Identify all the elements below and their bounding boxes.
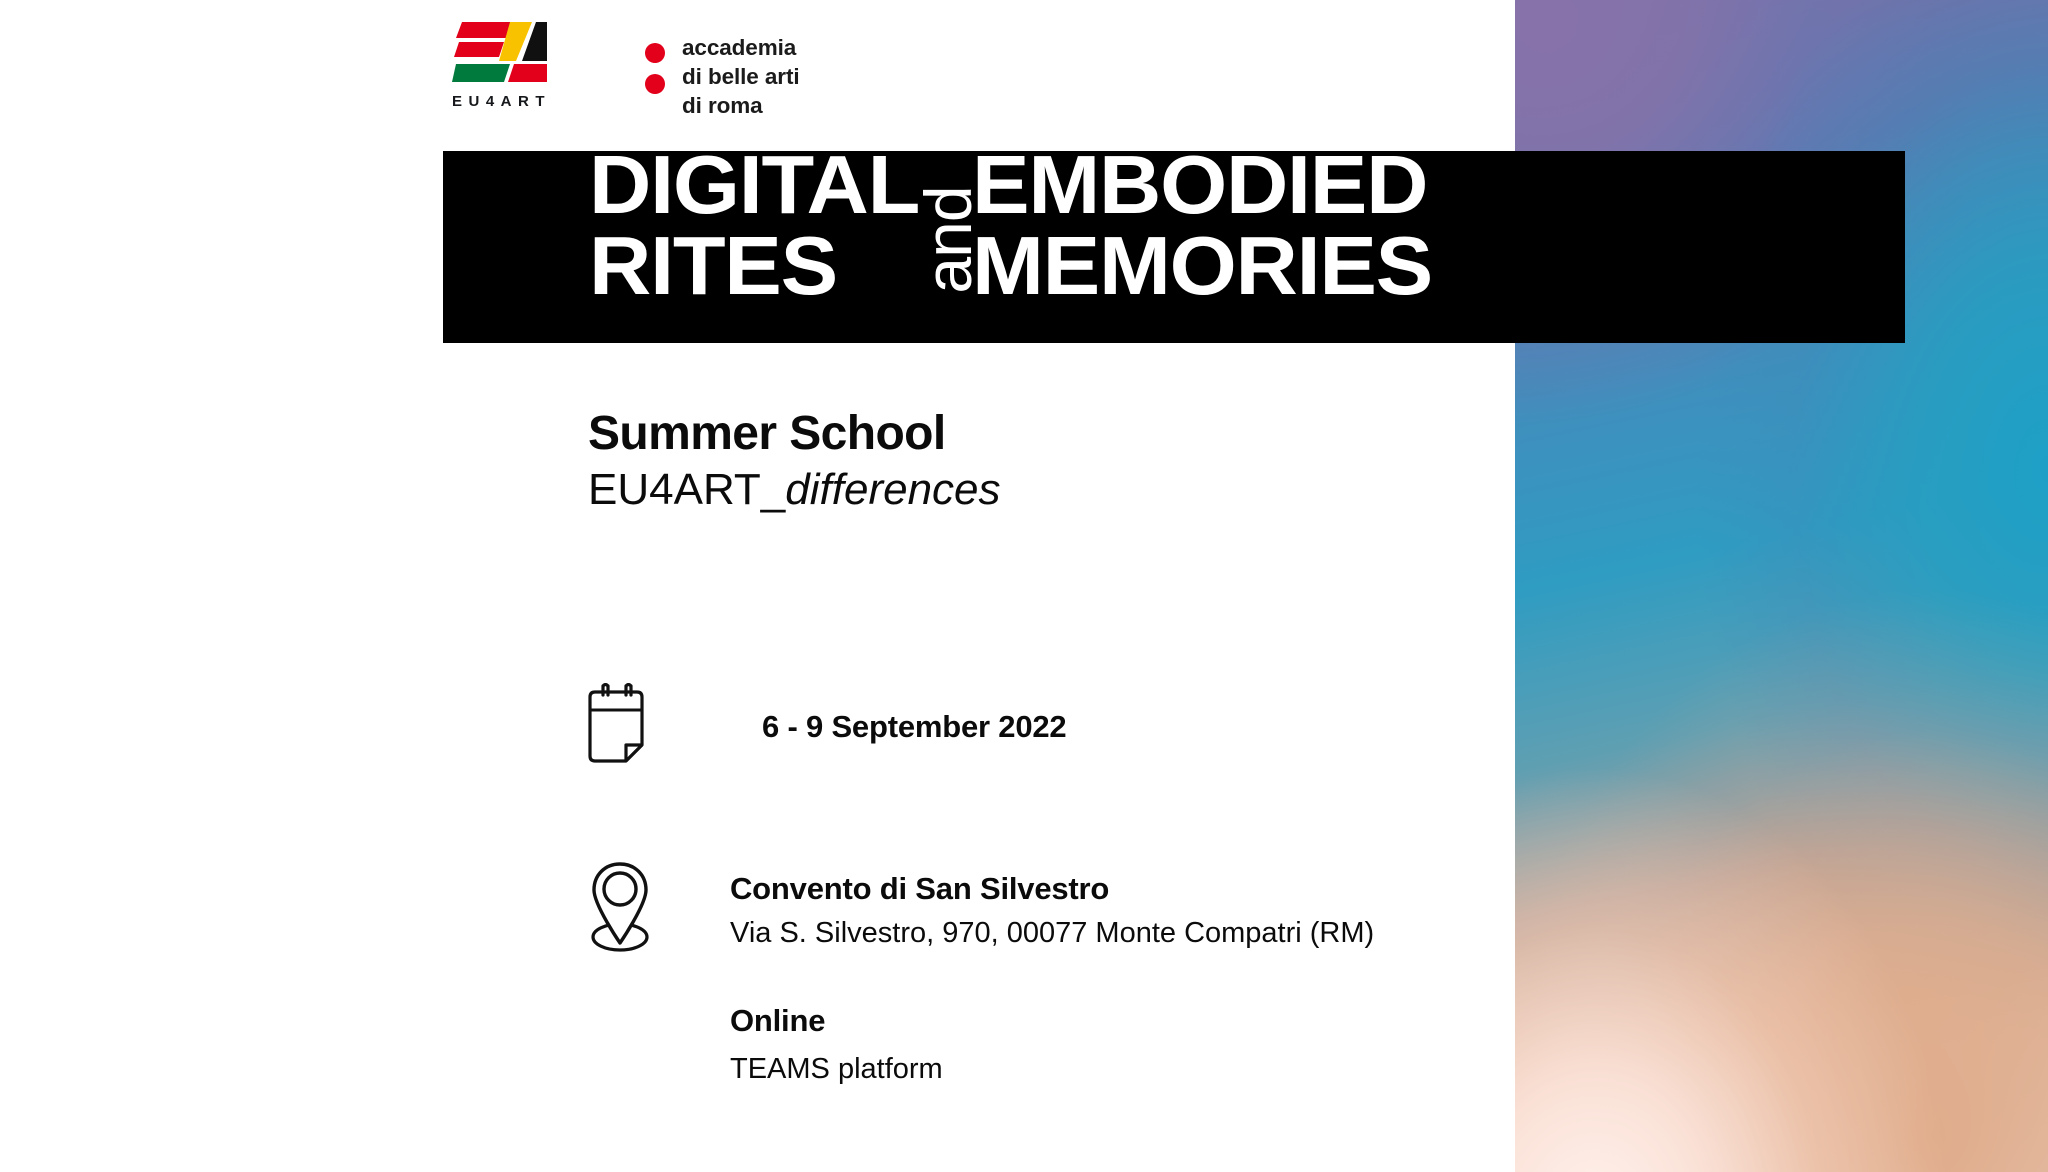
poster-canvas: EU4ART accademia di belle arti di roma D… [0, 0, 2048, 1172]
accademia-logo: accademia di belle arti di roma [644, 34, 799, 120]
eu4art-flag-logo [452, 16, 548, 88]
online-heading: Online [730, 1002, 1374, 1041]
banner-conjunction-wrap: and [906, 151, 972, 320]
venue-name: Convento di San Silvestro [730, 870, 1374, 909]
banner-title-embodied: EMBODIED [972, 151, 1432, 226]
banner-title-digital: DIGITAL [589, 151, 919, 226]
accademia-text-block: accademia di belle arti di roma [682, 34, 799, 120]
banner-title-rites: RITES [589, 226, 919, 307]
accademia-line-3: di roma [682, 92, 799, 121]
location-pin-icon [588, 855, 652, 955]
date-value: 6 - 9 September 2022 [762, 708, 1066, 747]
venue-text-block: Convento di San Silvestro Via S. Silvest… [730, 870, 1374, 1089]
eu4art-wordmark: EU4ART [452, 93, 548, 110]
online-platform: TEAMS platform [730, 1051, 1374, 1089]
school-subtitle-italic: differences [785, 465, 1000, 514]
banner-inner: DIGITAL RITES and EMBODIED MEMORIES [589, 151, 1415, 320]
logo-row: EU4ART accademia di belle arti di roma [452, 16, 799, 120]
banner-title-memories: MEMORIES [972, 226, 1432, 307]
date-text-block: 6 - 9 September 2022 [762, 708, 1066, 747]
venue-address: Via S. Silvestro, 970, 00077 Monte Compa… [730, 915, 1374, 953]
accademia-line-1: accademia [682, 34, 799, 63]
calendar-icon [580, 683, 652, 771]
school-subtitle-prefix: EU4ART_ [588, 465, 785, 514]
school-title: Summer School [588, 407, 1001, 461]
date-row: 6 - 9 September 2022 [580, 683, 1066, 771]
eu4art-logo: EU4ART [452, 16, 548, 110]
school-heading-block: Summer School EU4ART_differences [588, 407, 1001, 514]
title-banner: DIGITAL RITES and EMBODIED MEMORIES [443, 151, 1905, 343]
venue-row: Convento di San Silvestro Via S. Silvest… [588, 855, 1374, 1089]
banner-right-column: EMBODIED MEMORIES [972, 151, 1414, 306]
accademia-line-2: di belle arti [682, 63, 799, 92]
online-block: Online TEAMS platform [730, 1002, 1374, 1088]
school-subtitle: EU4ART_differences [588, 465, 1001, 514]
banner-left-column: DIGITAL RITES [589, 151, 906, 306]
accademia-dots-logo [644, 43, 668, 95]
